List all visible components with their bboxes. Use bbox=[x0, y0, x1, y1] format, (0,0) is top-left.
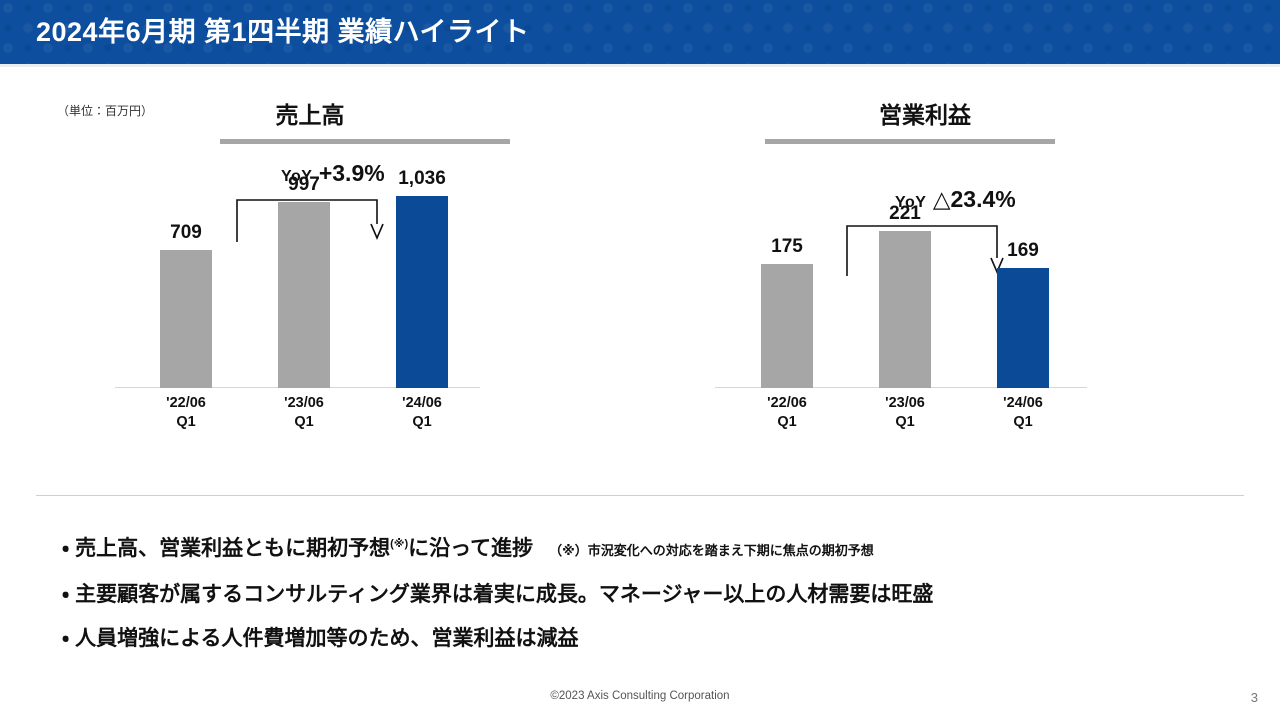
bullet-marker: ・ bbox=[62, 583, 69, 606]
bar-label-2: '24/06 Q1 bbox=[363, 388, 481, 432]
bullet-footnote: （※）市況変化への対応を踏まえ下期に焦点の期初予想 bbox=[549, 543, 874, 558]
bar-slot-0: 709 '22/06 Q1 bbox=[127, 156, 245, 388]
bar-slot-1: 997 '23/06 Q1 bbox=[245, 156, 363, 388]
bar-value-2: 169 bbox=[964, 240, 1082, 262]
bar-label-period-0: '22/06 bbox=[728, 394, 846, 413]
bullet-text-main: 主要顧客が属するコンサルティング業界は着実に成長。マネージャー以上の人材需要は旺… bbox=[75, 583, 933, 606]
chart-title-rule bbox=[765, 139, 1055, 144]
chart-title-operating-profit: 営業利益 bbox=[690, 96, 1160, 130]
page-title: 2024年6月期 第1四半期 業績ハイライト bbox=[36, 0, 530, 64]
chart-title-net-sales: 売上高 bbox=[75, 96, 545, 130]
summary-bullet-list: ・売上高、営業利益ともに期初予想(※)に沿って進捗（※）市況変化への対応を踏まえ… bbox=[62, 522, 1242, 661]
bullet-item-2: ・主要顧客が属するコンサルティング業界は着実に成長。マネージャー以上の人材需要は… bbox=[62, 573, 1242, 617]
bar-label-quarter-2: Q1 bbox=[363, 413, 481, 432]
bar-label-2: '24/06 Q1 bbox=[964, 388, 1082, 432]
bar-net-sales-0 bbox=[160, 250, 212, 388]
bar-slot-0: 175 '22/06 Q1 bbox=[728, 156, 846, 388]
bar-slot-1: 221 '23/06 Q1 bbox=[846, 156, 964, 388]
bar-label-period-2: '24/06 bbox=[964, 394, 1082, 413]
bullet-marker: ・ bbox=[62, 627, 69, 650]
bullet-text-main: 人員増強による人件費増加等のため、営業利益は減益 bbox=[75, 627, 578, 650]
bar-slot-2: 169 '24/06 Q1 bbox=[964, 156, 1082, 388]
bar-label-period-2: '24/06 bbox=[363, 394, 481, 413]
bar-operating-profit-1 bbox=[879, 231, 931, 388]
bar-operating-profit-2 bbox=[997, 268, 1049, 388]
bar-label-quarter-0: Q1 bbox=[728, 413, 846, 432]
footer-copyright: ©2023 Axis Consulting Corporation bbox=[0, 690, 1280, 702]
content-divider bbox=[36, 495, 1244, 496]
bar-slot-2: 1,036 '24/06 Q1 bbox=[363, 156, 481, 388]
bullet-text-main: 売上高、営業利益ともに期初予想 bbox=[75, 537, 390, 560]
slide-header: 2024年6月期 第1四半期 業績ハイライト bbox=[0, 0, 1280, 64]
bullet-marker: ・ bbox=[62, 537, 69, 560]
bullet-text-tail: に沿って進捗 bbox=[408, 537, 533, 560]
bar-value-1: 997 bbox=[245, 174, 363, 196]
bar-label-0: '22/06 Q1 bbox=[127, 388, 245, 432]
bar-value-1: 221 bbox=[846, 203, 964, 225]
bar-label-quarter-2: Q1 bbox=[964, 413, 1082, 432]
plot-area-net-sales: YoY +3.9% 709 '22/06 Q1 997 '23/ bbox=[75, 156, 545, 446]
header-underline bbox=[0, 64, 1280, 67]
bar-value-2: 1,036 bbox=[363, 168, 481, 190]
bar-label-1: '23/06 Q1 bbox=[846, 388, 964, 432]
bar-label-0: '22/06 Q1 bbox=[728, 388, 846, 432]
bar-label-quarter-1: Q1 bbox=[245, 413, 363, 432]
bullet-item-1: ・売上高、営業利益ともに期初予想(※)に沿って進捗（※）市況変化への対応を踏まえ… bbox=[62, 522, 1242, 573]
bar-label-period-1: '23/06 bbox=[245, 394, 363, 413]
bar-label-quarter-0: Q1 bbox=[127, 413, 245, 432]
bar-label-period-0: '22/06 bbox=[127, 394, 245, 413]
bullet-superscript-mark: (※) bbox=[390, 538, 408, 550]
bar-operating-profit-0 bbox=[761, 264, 813, 388]
chart-net-sales: 売上高 YoY +3.9% 709 '22/06 Q1 bbox=[75, 96, 545, 496]
bar-value-0: 709 bbox=[127, 222, 245, 244]
chart-title-rule bbox=[220, 139, 510, 144]
bar-label-period-1: '23/06 bbox=[846, 394, 964, 413]
slide: 2024年6月期 第1四半期 業績ハイライト （単位：百万円） 売上高 YoY … bbox=[0, 0, 1280, 720]
bar-net-sales-2 bbox=[396, 196, 448, 388]
page-number: 3 bbox=[1251, 690, 1258, 705]
plot-area-operating-profit: YoY △23.4% 175 '22/06 Q1 221 '23 bbox=[690, 156, 1160, 446]
bar-label-1: '23/06 Q1 bbox=[245, 388, 363, 432]
bar-value-0: 175 bbox=[728, 236, 846, 258]
chart-operating-profit: 営業利益 YoY △23.4% 175 '22/06 Q1 bbox=[690, 96, 1160, 496]
bullet-item-3: ・人員増強による人件費増加等のため、営業利益は減益 bbox=[62, 617, 1242, 661]
bar-net-sales-1 bbox=[278, 202, 330, 388]
bar-label-quarter-1: Q1 bbox=[846, 413, 964, 432]
